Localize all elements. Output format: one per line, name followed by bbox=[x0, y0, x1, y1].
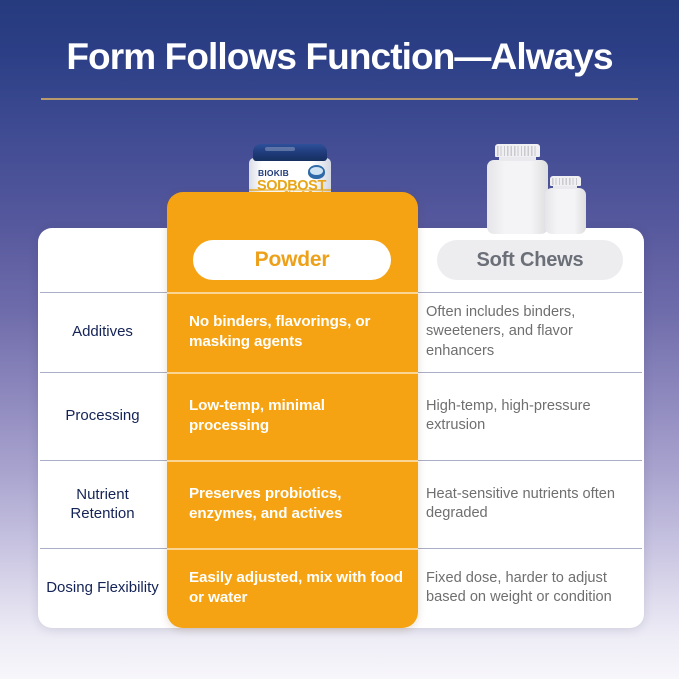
bottle-small-body bbox=[545, 188, 586, 234]
row-chews-text: Often includes binders, sweeteners, and … bbox=[426, 303, 640, 361]
powder-cell: Low-temp, minimal processing bbox=[189, 372, 403, 460]
column-header-powder-label: Powder bbox=[255, 248, 330, 272]
bottle-small-icon bbox=[545, 176, 576, 186]
column-powder-highlight: Powder No binders, flavorings, or maskin… bbox=[167, 192, 418, 628]
jar-lid bbox=[253, 144, 327, 161]
row-label-cell: Nutrient Retention bbox=[38, 460, 167, 548]
row-label: Processing bbox=[65, 406, 139, 425]
row-chews-cell: Heat-sensitive nutrients often degraded bbox=[418, 460, 644, 548]
bottle-large-cap bbox=[495, 144, 540, 157]
row-label: Additives bbox=[72, 322, 133, 341]
jar-seal-inner bbox=[310, 167, 323, 175]
bottle-large-icon bbox=[487, 144, 532, 157]
powder-cell-text: Preserves probiotics, enzymes, and activ… bbox=[189, 484, 403, 524]
bottle-small-cap bbox=[550, 176, 581, 186]
powder-cell-text: Low-temp, minimal processing bbox=[189, 396, 403, 436]
row-label: Nutrient Retention bbox=[44, 485, 161, 523]
page-title: Form Follows Function—Always bbox=[0, 36, 679, 77]
title-block: Form Follows Function—Always bbox=[0, 36, 679, 77]
row-chews-text: Heat-sensitive nutrients often degraded bbox=[426, 485, 640, 524]
column-header-soft-chews-label: Soft Chews bbox=[477, 249, 584, 272]
jar-lid-highlight bbox=[265, 147, 295, 151]
row-chews-cell: Fixed dose, harder to adjust based on we… bbox=[418, 548, 644, 628]
row-chews-cell: Often includes binders, sweeteners, and … bbox=[418, 292, 644, 372]
powder-cell: Preserves probiotics, enzymes, and activ… bbox=[189, 460, 403, 548]
bottle-large-body bbox=[487, 160, 548, 234]
row-chews-text: High-temp, high-pressure extrusion bbox=[426, 397, 640, 436]
powder-cell-text: No binders, flavorings, or masking agent… bbox=[189, 312, 403, 352]
powder-cell: No binders, flavorings, or masking agent… bbox=[189, 292, 403, 372]
infographic-canvas: Form Follows Function—Always BIOKIB SODB… bbox=[0, 0, 679, 679]
column-header-powder: Powder bbox=[193, 240, 391, 280]
row-chews-cell: High-temp, high-pressure extrusion bbox=[418, 372, 644, 460]
row-label: Dosing Flexibility bbox=[46, 578, 159, 597]
row-label-cell: Additives bbox=[38, 292, 167, 372]
powder-cell-text: Easily adjusted, mix with food or water bbox=[189, 568, 403, 608]
row-chews-text: Fixed dose, harder to adjust based on we… bbox=[426, 569, 640, 608]
row-label-cell: Dosing Flexibility bbox=[38, 548, 167, 628]
jar-seal-badge-icon bbox=[308, 165, 325, 179]
row-label-cell: Processing bbox=[38, 372, 167, 460]
header-cell-empty bbox=[38, 228, 167, 292]
jar-brand-label: BIOKIB bbox=[258, 168, 289, 178]
column-header-soft-chews: Soft Chews bbox=[437, 240, 623, 280]
powder-cell: Easily adjusted, mix with food or water bbox=[189, 548, 403, 628]
soft-chew-bottles-image bbox=[487, 144, 583, 234]
title-underline-rule bbox=[41, 98, 638, 100]
